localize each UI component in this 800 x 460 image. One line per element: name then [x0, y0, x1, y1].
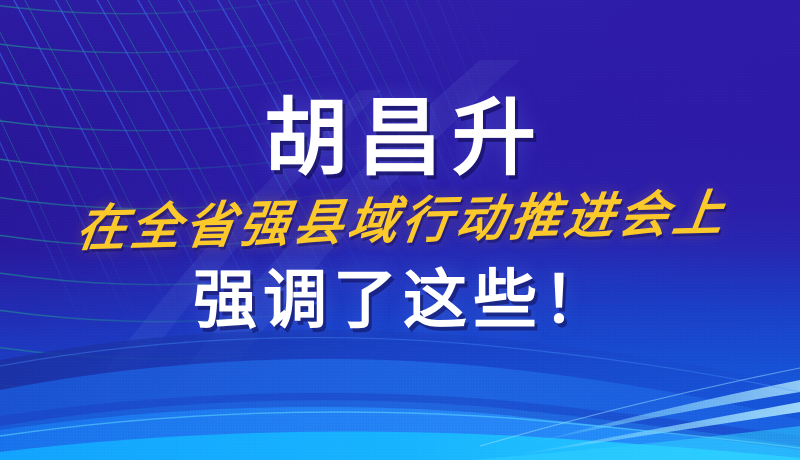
headline-subtitle-calligraphy: 在全省强县域行动推进会上 — [69, 188, 730, 254]
headline-name: 胡昌升 — [254, 96, 546, 180]
poster-banner: 胡昌升 在全省强县域行动推进会上 强调了这些！ — [0, 0, 800, 460]
headline-block: 胡昌升 在全省强县域行动推进会上 强调了这些！ — [0, 0, 800, 460]
headline-emphasis: 强调了这些！ — [187, 268, 613, 332]
